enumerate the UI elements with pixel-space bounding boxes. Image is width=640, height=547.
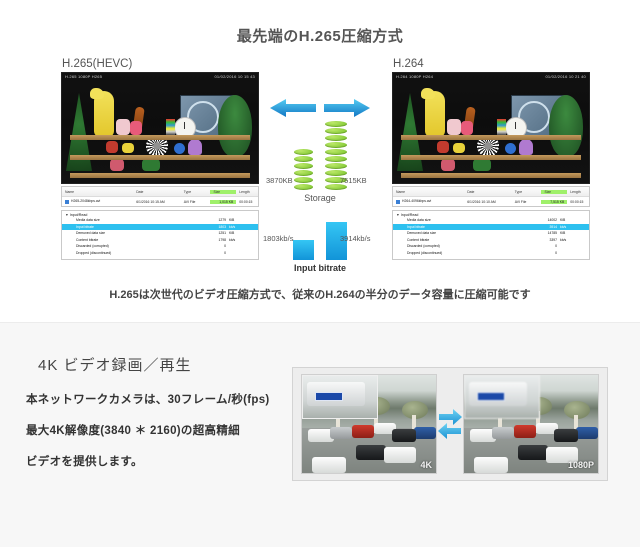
stat-value: 1803 bbox=[182, 225, 226, 229]
resolution-comparison-figure: 4K bbox=[292, 367, 608, 481]
parked-car bbox=[514, 425, 536, 438]
stat-label: Content bitrate bbox=[393, 238, 513, 242]
potted-plant-prop bbox=[218, 95, 252, 157]
column-header-size[interactable]: Size bbox=[541, 190, 567, 194]
shoes-prop bbox=[441, 159, 455, 171]
column-header-length[interactable]: Length bbox=[236, 190, 258, 194]
stat-label: Discarded (corrupted) bbox=[62, 244, 182, 248]
video-osd-overlay: H.264 1080P H264 01/02/2016 10 21 40 bbox=[396, 74, 586, 81]
column-header-type[interactable]: Type bbox=[181, 190, 211, 194]
h264-video-thumbnail: H.264 1080P H264 01/02/2016 10 21 40 bbox=[392, 72, 590, 184]
plush-toy-prop bbox=[519, 139, 533, 155]
potted-plant-prop bbox=[549, 95, 583, 157]
stat-value: 0 bbox=[182, 251, 226, 255]
stat-unit: KiB bbox=[557, 218, 586, 222]
plush-toy-prop bbox=[188, 139, 202, 155]
cell-file-size: 7,515 KB bbox=[541, 200, 567, 204]
storage-bitrate-comparison: Storage Input bitrate bbox=[266, 128, 374, 273]
storage-value-h265: 3870KB bbox=[266, 176, 293, 185]
shelf bbox=[70, 155, 250, 160]
parked-car bbox=[356, 445, 386, 460]
ball-prop bbox=[174, 143, 185, 154]
shelf bbox=[401, 173, 581, 178]
stat-value: 3914 bbox=[513, 225, 557, 229]
toy-box-prop bbox=[106, 141, 118, 153]
right-panel-label: H.264 bbox=[393, 58, 424, 70]
zoom-inset-4k bbox=[302, 375, 378, 419]
osd-stream-name: H.264 1080P H264 bbox=[396, 74, 433, 81]
table-row[interactable]: H265-2048kbps.avi 6/1/2016 10:15 AM AVI … bbox=[62, 197, 258, 206]
stat-value: 1798 bbox=[182, 238, 226, 242]
stat-row: Dropped (discontinued)0 bbox=[62, 250, 258, 257]
stat-label: Demuxed data size bbox=[62, 231, 182, 235]
osd-stream-name: H.265 1080P H265 bbox=[65, 74, 102, 81]
table-header-row: Name Date Type Size Length bbox=[62, 187, 258, 197]
table-header-row: Name Date Type Size Length bbox=[393, 187, 589, 197]
stat-label: Input bitrate bbox=[393, 225, 513, 229]
column-header-length[interactable]: Length bbox=[567, 190, 589, 194]
parked-car bbox=[352, 425, 374, 438]
column-header-date[interactable]: Date bbox=[464, 190, 512, 194]
stat-unit: kb/s bbox=[226, 238, 255, 242]
parked-car bbox=[330, 427, 352, 439]
cell-file-date: 6/1/2016 10:15 AM bbox=[133, 200, 181, 204]
plush-toy-prop bbox=[116, 119, 130, 135]
ball-prop bbox=[505, 143, 516, 154]
cell-file-date: 6/1/2016 10:10 AM bbox=[464, 200, 512, 204]
plush-toy-prop bbox=[130, 121, 142, 135]
cell-file-name: H265-2048kbps.avi bbox=[62, 199, 133, 203]
shelf bbox=[401, 155, 581, 160]
section2-title: 4K ビデオ録画／再生 bbox=[38, 354, 192, 375]
shelf bbox=[70, 173, 250, 178]
arrow-right-icon bbox=[439, 409, 462, 425]
comparison-image-4k: 4K bbox=[301, 374, 437, 474]
shelf bbox=[401, 135, 581, 140]
stat-unit: KiB bbox=[226, 231, 255, 235]
page-root: 最先端のH.265圧縮方式 H.265(HEVC) H.264 bbox=[0, 0, 640, 546]
stat-label: Content bitrate bbox=[62, 238, 182, 242]
column-header-date[interactable]: Date bbox=[133, 190, 181, 194]
toy-box-prop bbox=[437, 141, 449, 153]
stat-unit: kb/s bbox=[557, 225, 586, 229]
h265-comparison-section: 最先端のH.265圧縮方式 H.265(HEVC) H.264 bbox=[0, 0, 640, 318]
color-chart-prop bbox=[497, 119, 506, 135]
storage-caption: Storage bbox=[266, 193, 374, 203]
toy-box-prop bbox=[122, 143, 134, 153]
giraffe-balloon-prop bbox=[94, 91, 114, 137]
cell-file-size: 1,015 KB bbox=[210, 200, 236, 204]
parked-car bbox=[392, 429, 416, 442]
resolution-tag-4k: 4K bbox=[420, 460, 432, 470]
stat-value: 0 bbox=[513, 244, 557, 248]
h265-panel: H.265 1080P H265 01/02/2016 10 15 43 Nam… bbox=[61, 72, 259, 260]
license-plate bbox=[315, 392, 343, 401]
section2-line-3: ビデオを提供します。 bbox=[26, 453, 143, 469]
h264-panel: H.264 1080P H264 01/02/2016 10 21 40 Nam… bbox=[392, 72, 590, 260]
section2-line-1: 本ネットワークカメラは、30フレーム/秒(fps) bbox=[26, 391, 270, 407]
left-panel-label: H.265(HEVC) bbox=[62, 58, 132, 70]
bitrate-value-h265: 1803kb/s bbox=[263, 234, 293, 243]
cell-file-type: AVI File bbox=[512, 200, 542, 204]
stat-row: Dropped (discontinued)0 bbox=[393, 250, 589, 257]
stat-value: 14002 bbox=[513, 218, 557, 222]
section1-caption: H.265は次世代のビデオ圧縮方式で、従来のH.264の半分のデータ容量に圧縮可… bbox=[0, 286, 640, 302]
parked-car bbox=[384, 447, 416, 463]
bitrate-caption: Input bitrate bbox=[266, 263, 374, 273]
stat-label: Media data size bbox=[393, 218, 513, 222]
4k-video-section: 4K ビデオ録画／再生 本ネットワークカメラは、30フレーム/秒(fps) 最大… bbox=[0, 322, 640, 547]
parked-car bbox=[474, 457, 508, 473]
stat-label: Dropped (discontinued) bbox=[62, 251, 182, 255]
stat-label: Demuxed data size bbox=[393, 231, 513, 235]
plush-toy-prop bbox=[447, 119, 461, 135]
table-row[interactable]: H264-4096kbps.avi 6/1/2016 10:10 AM AVI … bbox=[393, 197, 589, 206]
cell-file-type: AVI File bbox=[181, 200, 211, 204]
parked-car bbox=[414, 427, 436, 439]
giraffe-balloon-prop bbox=[425, 91, 445, 137]
parked-car bbox=[554, 429, 578, 442]
arrow-left-icon bbox=[270, 98, 316, 118]
file-icon bbox=[65, 200, 69, 204]
video-osd-overlay: H.265 1080P H265 01/02/2016 10 15 43 bbox=[65, 74, 255, 81]
column-header-size[interactable]: Size bbox=[210, 190, 236, 194]
parked-car bbox=[312, 457, 346, 473]
stat-unit: kb/s bbox=[557, 238, 586, 242]
shelf bbox=[70, 135, 250, 140]
stat-label: Media data size bbox=[62, 218, 182, 222]
column-header-name[interactable]: Name bbox=[393, 190, 464, 194]
arrow-right-icon bbox=[324, 98, 370, 118]
bitrate-value-h264: 3914kb/s bbox=[340, 234, 370, 243]
h264-file-table[interactable]: Name Date Type Size Length H264-4096kbps… bbox=[392, 186, 590, 207]
shoes-prop bbox=[110, 159, 124, 171]
h265-stats-panel: ▾Input/Read Media data size1279KiB Input… bbox=[61, 210, 259, 260]
stat-value: 0 bbox=[513, 251, 557, 255]
parked-car bbox=[576, 427, 598, 439]
stat-unit: KiB bbox=[557, 231, 586, 235]
license-plate bbox=[477, 392, 505, 401]
storage-stack-h265 bbox=[294, 149, 313, 190]
h265-file-table[interactable]: Name Date Type Size Length H265-2048kbps… bbox=[61, 186, 259, 207]
cell-file-length: 00:00:15 bbox=[236, 200, 258, 204]
arrow-left-icon bbox=[438, 423, 461, 439]
file-icon bbox=[396, 200, 400, 204]
grass-box-prop bbox=[473, 159, 491, 171]
chevron-down-icon: ▾ bbox=[397, 213, 399, 217]
stat-label: Dropped (discontinued) bbox=[393, 251, 513, 255]
page-title: 最先端のH.265圧縮方式 bbox=[0, 25, 640, 46]
stat-value: 0 bbox=[182, 244, 226, 248]
stat-unit: kb/s bbox=[226, 225, 255, 229]
grass-box-prop bbox=[142, 159, 160, 171]
column-header-name[interactable]: Name bbox=[62, 190, 133, 194]
stat-value: 1279 bbox=[182, 218, 226, 222]
stat-value: 14785 bbox=[513, 231, 557, 235]
chevron-down-icon: ▾ bbox=[66, 213, 68, 217]
osd-timestamp: 01/02/2016 10 21 40 bbox=[545, 74, 586, 81]
comparison-image-1080p: 1080P bbox=[463, 374, 599, 474]
plush-toy-prop bbox=[461, 121, 473, 135]
h264-stats-panel: ▾Input/Read Media data size14002KiB Inpu… bbox=[392, 210, 590, 260]
cell-file-length: 00:00:15 bbox=[567, 200, 589, 204]
stat-unit: KiB bbox=[226, 218, 255, 222]
color-chart-prop bbox=[166, 119, 175, 135]
stat-value: 1251 bbox=[182, 231, 226, 235]
stat-value: 3397 bbox=[513, 238, 557, 242]
storage-value-h264: 7515KB bbox=[340, 176, 367, 185]
bitrate-bar-h265 bbox=[293, 240, 314, 260]
cell-file-name: H264-4096kbps.avi bbox=[393, 199, 464, 203]
comparison-arrows bbox=[437, 404, 463, 444]
section2-line-2: 最大4K解像度(3840 ＊ 2160)の超高精細 bbox=[26, 422, 240, 438]
toy-box-prop bbox=[453, 143, 465, 153]
stat-label: Discarded (corrupted) bbox=[393, 244, 513, 248]
zoom-inset-1080p bbox=[464, 375, 540, 419]
column-header-type[interactable]: Type bbox=[512, 190, 542, 194]
parked-car bbox=[492, 427, 514, 439]
resolution-tag-1080p: 1080P bbox=[568, 460, 594, 470]
stat-label: Input bitrate bbox=[62, 225, 182, 229]
h265-video-thumbnail: H.265 1080P H265 01/02/2016 10 15 43 bbox=[61, 72, 259, 184]
parked-car bbox=[518, 445, 548, 460]
osd-timestamp: 01/02/2016 10 15 43 bbox=[214, 74, 255, 81]
